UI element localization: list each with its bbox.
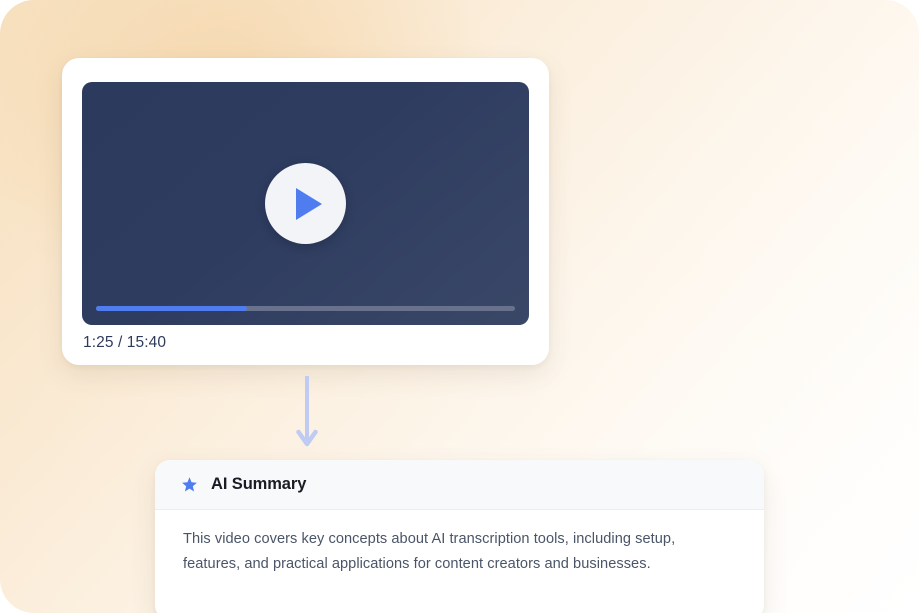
ai-summary-text: This video covers key concepts about AI … <box>155 510 764 577</box>
ai-summary-card: AI Summary This video covers key concept… <box>155 460 764 613</box>
arrow-down-icon <box>296 376 318 452</box>
star-icon <box>181 476 198 493</box>
page-surface: 1:25 / 15:40 AI Summary This video cover… <box>0 0 919 613</box>
video-timestamp: 1:25 / 15:40 <box>83 334 166 352</box>
ai-summary-title: AI Summary <box>211 475 306 494</box>
video-progress-track[interactable] <box>96 306 515 311</box>
video-player-card: 1:25 / 15:40 <box>62 58 549 365</box>
play-triangle-icon <box>296 188 322 220</box>
ai-summary-header: AI Summary <box>155 460 764 510</box>
play-button[interactable] <box>265 163 346 244</box>
video-progress-fill <box>96 306 247 311</box>
video-screen[interactable] <box>82 82 529 325</box>
